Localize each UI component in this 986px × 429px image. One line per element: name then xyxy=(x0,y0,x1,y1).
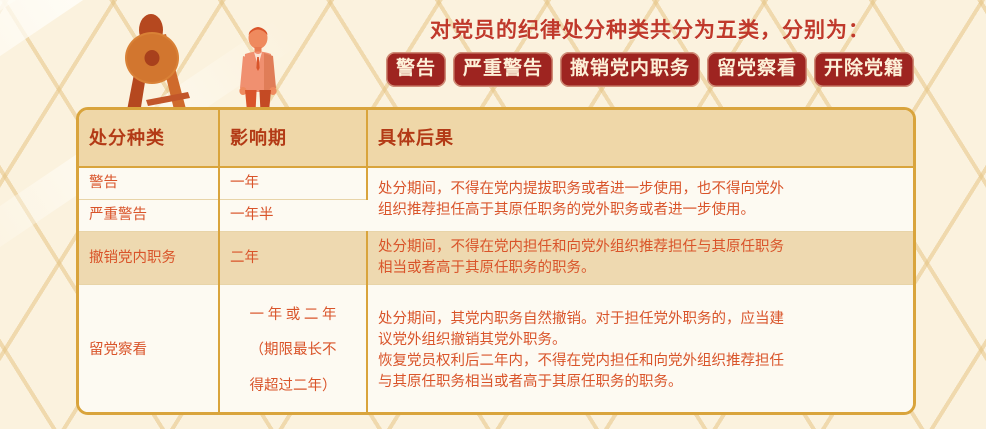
cell-type-warning: 警告 xyxy=(79,167,219,200)
cell-period-remove-post: 二年 xyxy=(219,232,367,285)
period-line: （期限最长不 xyxy=(230,340,356,361)
consequence-line: 恢复党员权利后二年内，不得在党内担任和向党外组织推荐担任 xyxy=(378,351,903,372)
cell-period-warning: 一年 xyxy=(219,167,367,200)
badge-probation[interactable]: 留党察看 xyxy=(707,52,807,87)
column-header-period: 影响期 xyxy=(219,110,367,167)
table-row: 警告 一年 处分期间，不得在党内提拔职务或者进一步使用，也不得向党外 组织推荐担… xyxy=(79,167,913,200)
discipline-table: 处分种类 影响期 具体后果 警告 一年 处分期间，不得在党内提拔职务或者进一步使… xyxy=(79,110,913,415)
consequence-line: 相当或者高于其原任职务的职务。 xyxy=(378,258,903,279)
badge-serious-warning[interactable]: 严重警告 xyxy=(453,52,553,87)
infographic-poster: 对党员的纪律处分种类共分为五类，分别为： 警告 严重警告 撤销党内职务 留党察看… xyxy=(0,0,986,429)
cell-type-probation: 留党察看 xyxy=(79,285,219,415)
page-title: 对党员的纪律处分种类共分为五类，分别为： xyxy=(330,14,970,44)
cell-period-probation: 一 年 或 二 年 （期限最长不 得超过二年） xyxy=(219,285,367,415)
consequence-line: 处分期间，不得在党内提拔职务或者进一步使用，也不得向党外 xyxy=(378,179,903,200)
cell-type-serious-warning: 严重警告 xyxy=(79,200,219,232)
cell-consequence-remove-post: 处分期间，不得在党内担任和向党外组织推荐担任与其原任职务 相当或者高于其原任职务… xyxy=(367,232,913,285)
cell-type-remove-post: 撤销党内职务 xyxy=(79,232,219,285)
cell-period-serious-warning: 一年半 xyxy=(219,200,367,232)
table-row: 留党察看 一 年 或 二 年 （期限最长不 得超过二年） 处分期间，其党内职务自… xyxy=(79,285,913,415)
table-row: 撤销党内职务 二年 处分期间，不得在党内担任和向党外组织推荐担任与其原任职务 相… xyxy=(79,232,913,285)
cell-consequence-warning: 处分期间，不得在党内提拔职务或者进一步使用，也不得向党外 组织推荐担任高于其原任… xyxy=(367,167,913,232)
badge-expulsion[interactable]: 开除党籍 xyxy=(814,52,914,87)
cell-consequence-probation: 处分期间，其党内职务自然撤销。对于担任党外职务的，应当建 议党外组织撤销其党外职… xyxy=(367,285,913,415)
badge-remove-post[interactable]: 撤销党内职务 xyxy=(560,52,700,87)
consequence-line: 处分期间，不得在党内担任和向党外组织推荐担任与其原任职务 xyxy=(378,237,903,258)
table-header: 处分种类 影响期 具体后果 xyxy=(79,110,913,167)
period-line: 得超过二年） xyxy=(230,376,356,397)
table-header-row: 处分种类 影响期 具体后果 xyxy=(79,110,913,167)
period-line: 一 年 或 二 年 xyxy=(230,305,356,326)
column-header-consequence: 具体后果 xyxy=(367,110,913,167)
table-body: 警告 一年 处分期间，不得在党内提拔职务或者进一步使用，也不得向党外 组织推荐担… xyxy=(79,167,913,415)
consequence-line: 议党外组织撤销其党外职务。 xyxy=(378,330,903,351)
discipline-table-container: 处分种类 影响期 具体后果 警告 一年 处分期间，不得在党内提拔职务或者进一步使… xyxy=(76,107,916,415)
consequence-line: 与其原任职务相当或者高于其原任职务的职务。 xyxy=(378,372,903,393)
discipline-type-badge-row: 警告 严重警告 撤销党内职务 留党察看 开除党籍 xyxy=(320,52,980,87)
badge-warning[interactable]: 警告 xyxy=(386,52,446,87)
consequence-line: 组织推荐担任高于其原任职务的党外职务或者进一步使用。 xyxy=(378,200,903,221)
consequence-line: 处分期间，其党内职务自然撤销。对于担任党外职务的，应当建 xyxy=(378,309,903,330)
column-header-type: 处分种类 xyxy=(79,110,219,167)
